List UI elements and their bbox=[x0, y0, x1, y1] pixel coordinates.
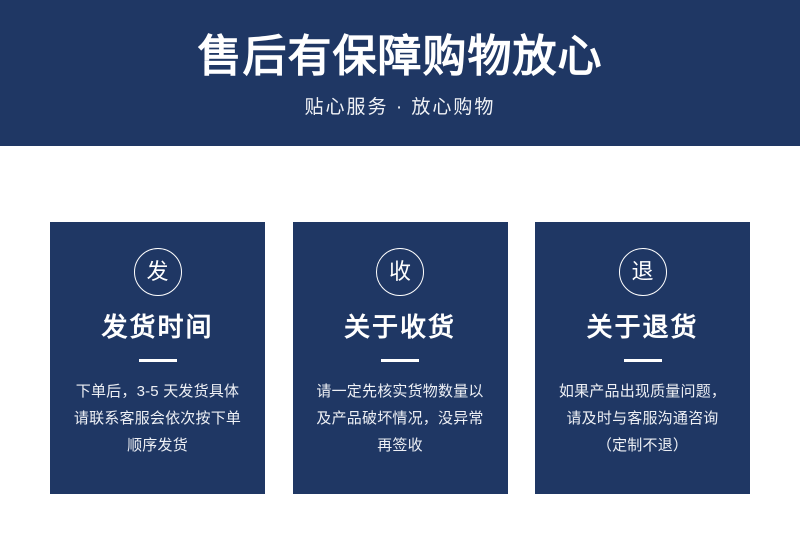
page-title: 售后有保障购物放心 bbox=[198, 31, 603, 83]
info-card-shipping-time: 发 发货时间 下单后，3-5 天发货具体请联系客服会依次按下单顺序发货 bbox=[50, 222, 265, 494]
service-guarantee-banner-page: 售后有保障购物放心 贴心服务 · 放心购物 发 发货时间 下单后，3-5 天发货… bbox=[0, 0, 800, 545]
info-card-body: 请一定先核实货物数量以及产品破坏情况，没异常再签收 bbox=[314, 378, 486, 459]
header-banner: 售后有保障购物放心 贴心服务 · 放心购物 bbox=[0, 0, 800, 146]
info-card-list: 发 发货时间 下单后，3-5 天发货具体请联系客服会依次按下单顺序发货 收 关于… bbox=[50, 222, 750, 494]
info-card-body: 下单后，3-5 天发货具体请联系客服会依次按下单顺序发货 bbox=[72, 378, 244, 459]
info-card-receiving: 收 关于收货 请一定先核实货物数量以及产品破坏情况，没异常再签收 bbox=[293, 222, 508, 494]
circle-badge-fahuo-icon: 发 bbox=[134, 248, 182, 296]
info-card-title: 关于收货 bbox=[344, 312, 456, 343]
title-divider bbox=[381, 359, 419, 362]
circle-badge-shouhuo-icon: 收 bbox=[376, 248, 424, 296]
info-card-title: 发货时间 bbox=[101, 312, 213, 343]
page-subtitle: 贴心服务 · 放心购物 bbox=[305, 92, 496, 119]
info-card-title: 关于退货 bbox=[586, 312, 698, 343]
title-divider bbox=[139, 359, 177, 362]
info-card-body: 如果产品出现质量问题，请及时与客服沟通咨询（定制不退） bbox=[557, 378, 729, 459]
title-divider bbox=[624, 359, 662, 362]
circle-badge-tuihuo-icon: 退 bbox=[619, 248, 667, 296]
info-card-returns: 退 关于退货 如果产品出现质量问题，请及时与客服沟通咨询（定制不退） bbox=[535, 222, 750, 494]
